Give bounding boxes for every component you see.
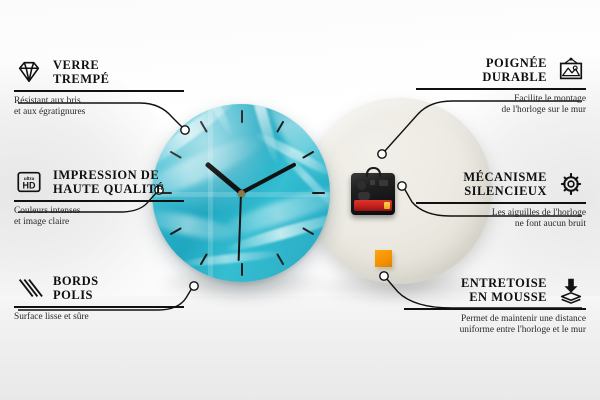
callout-rule xyxy=(14,200,184,202)
mechanism-detail xyxy=(357,181,366,190)
mechanism-detail xyxy=(379,180,388,186)
callout-rule xyxy=(416,202,586,204)
callout-description: Résistant aux briset aux égratignures xyxy=(14,96,184,119)
callout-rule xyxy=(416,88,586,90)
hanging-picture-icon xyxy=(556,56,586,84)
callout-description: Couleurs intenseset image claire xyxy=(14,206,184,229)
callout-title: ENTRETOISEEN MOUSSE xyxy=(461,276,547,304)
svg-text:HD: HD xyxy=(23,181,36,191)
clock-tick xyxy=(312,192,325,194)
callout-title: MÉCANISMESILENCIEUX xyxy=(463,170,547,198)
callout-description: Surface lisse et sûre xyxy=(14,312,184,323)
callout-title: IMPRESSION DEHAUTE QUALITÉ xyxy=(53,168,165,196)
callout-poignee-durable[interactable]: POIGNÉEDURABLE Facilite le montagede l'h… xyxy=(416,56,586,116)
callout-verre-trempe[interactable]: VERRETREMPÉ Résistant aux briset aux égr… xyxy=(14,58,184,118)
callout-description: Les aiguilles de l'horlogene font aucun … xyxy=(416,208,586,231)
diamond-icon xyxy=(14,58,44,86)
callout-impression-haute-qualite[interactable]: ultra HD IMPRESSION DEHAUTE QUALITÉ Coul… xyxy=(14,168,184,228)
callout-header: POIGNÉEDURABLE xyxy=(416,56,586,84)
callout-header: ENTRETOISEEN MOUSSE xyxy=(404,276,586,304)
callout-header: MÉCANISMESILENCIEUX xyxy=(416,170,586,198)
callout-rule xyxy=(404,308,586,310)
infographic-canvas: VERRETREMPÉ Résistant aux briset aux égr… xyxy=(0,0,600,400)
foam-spacer-icon xyxy=(556,276,586,304)
glass-seam xyxy=(208,104,213,282)
callout-mecanisme-silencieux[interactable]: MÉCANISMESILENCIEUX Les aiguilles de l'h… xyxy=(416,170,586,230)
mechanism-detail xyxy=(370,180,375,185)
clock-hand-cap xyxy=(238,190,245,197)
foam-spacer xyxy=(375,250,392,267)
hanger-loop-icon xyxy=(366,167,381,177)
callout-header: VERRETREMPÉ xyxy=(14,58,184,86)
callout-entretoise-en-mousse[interactable]: ENTRETOISEEN MOUSSE Permet de maintenir … xyxy=(404,276,586,336)
mechanism-detail xyxy=(358,192,370,200)
callout-rule xyxy=(14,90,184,92)
ultra-hd-icon: ultra HD xyxy=(14,168,44,196)
gear-icon xyxy=(556,170,586,198)
callout-description: Permet de maintenir une distanceuniforme… xyxy=(404,314,586,337)
callout-rule xyxy=(14,306,184,308)
clock-tick xyxy=(241,263,243,276)
callout-description: Facilite le montagede l'horloge sur le m… xyxy=(416,94,586,117)
battery xyxy=(354,200,392,211)
clock-mechanism xyxy=(351,173,395,215)
callout-header: BORDSPOLIS xyxy=(14,274,184,302)
clock-tick xyxy=(241,110,243,123)
callout-header: ultra HD IMPRESSION DEHAUTE QUALITÉ xyxy=(14,168,184,196)
callout-title: VERRETREMPÉ xyxy=(53,58,109,86)
callout-title: BORDSPOLIS xyxy=(53,274,99,302)
polished-edges-icon xyxy=(14,274,44,302)
callout-bords-polis[interactable]: BORDSPOLIS Surface lisse et sûre xyxy=(14,274,184,323)
callout-title: POIGNÉEDURABLE xyxy=(482,56,547,84)
